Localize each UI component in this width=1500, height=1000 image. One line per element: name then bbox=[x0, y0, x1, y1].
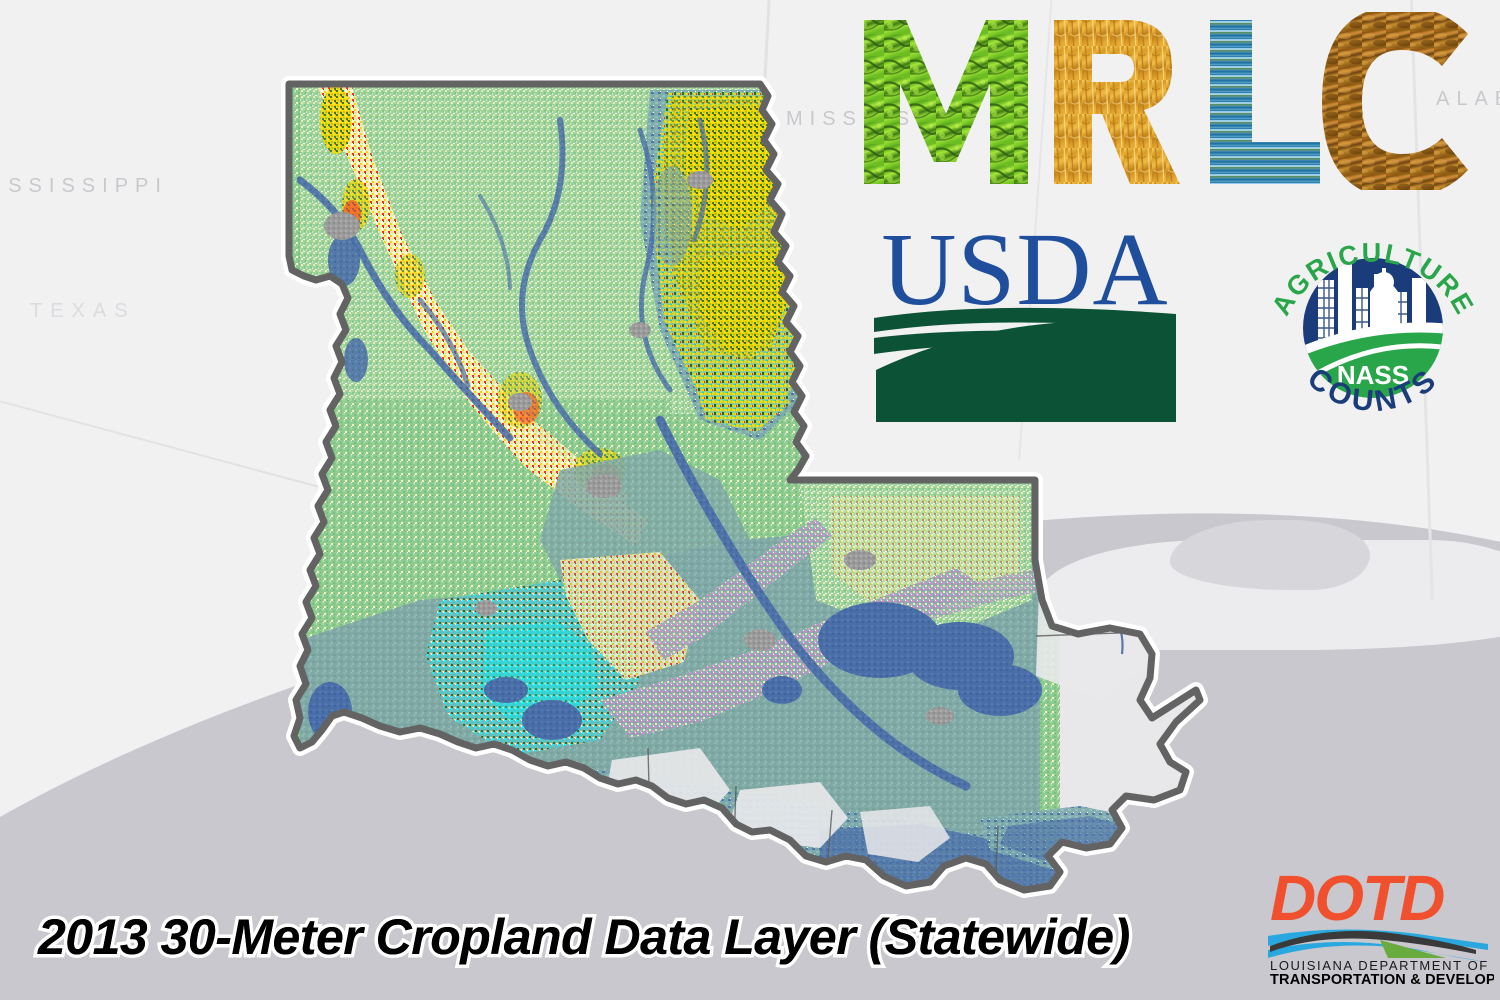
cdl-raster-layer bbox=[280, 70, 1178, 930]
mrlc-letter-l bbox=[1210, 20, 1320, 184]
mrlc-letter-c bbox=[1322, 12, 1468, 190]
mrlc-letter-m bbox=[864, 20, 1028, 184]
usda-logo: USDA bbox=[870, 218, 1180, 426]
page-title: 2013 30-Meter Cropland Data Layer (State… bbox=[38, 908, 1130, 966]
dotd-line1: LOUISIANA DEPARTMENT OF bbox=[1270, 958, 1489, 973]
dotd-line2: TRANSPORTATION & DEVELOPMENT bbox=[1270, 972, 1494, 986]
dotd-logo: DOTD LOUISIANA DEPARTMENT OF TRANSPORTAT… bbox=[1262, 858, 1494, 986]
mrlc-letter-r bbox=[1054, 20, 1180, 184]
nass-seal: NASS AGRICULTURE COUNTS bbox=[1258, 218, 1488, 438]
urban-neworleans bbox=[744, 629, 776, 651]
urban-shreveport bbox=[324, 212, 360, 240]
mrlc-logo bbox=[858, 12, 1486, 190]
poster-canvas: MISSISSIPPI MISSISSIPPI ALABAMA TEXAS bbox=[0, 0, 1500, 1000]
urban-batonrouge bbox=[586, 474, 622, 498]
dotd-wordmark: DOTD bbox=[1270, 862, 1444, 934]
